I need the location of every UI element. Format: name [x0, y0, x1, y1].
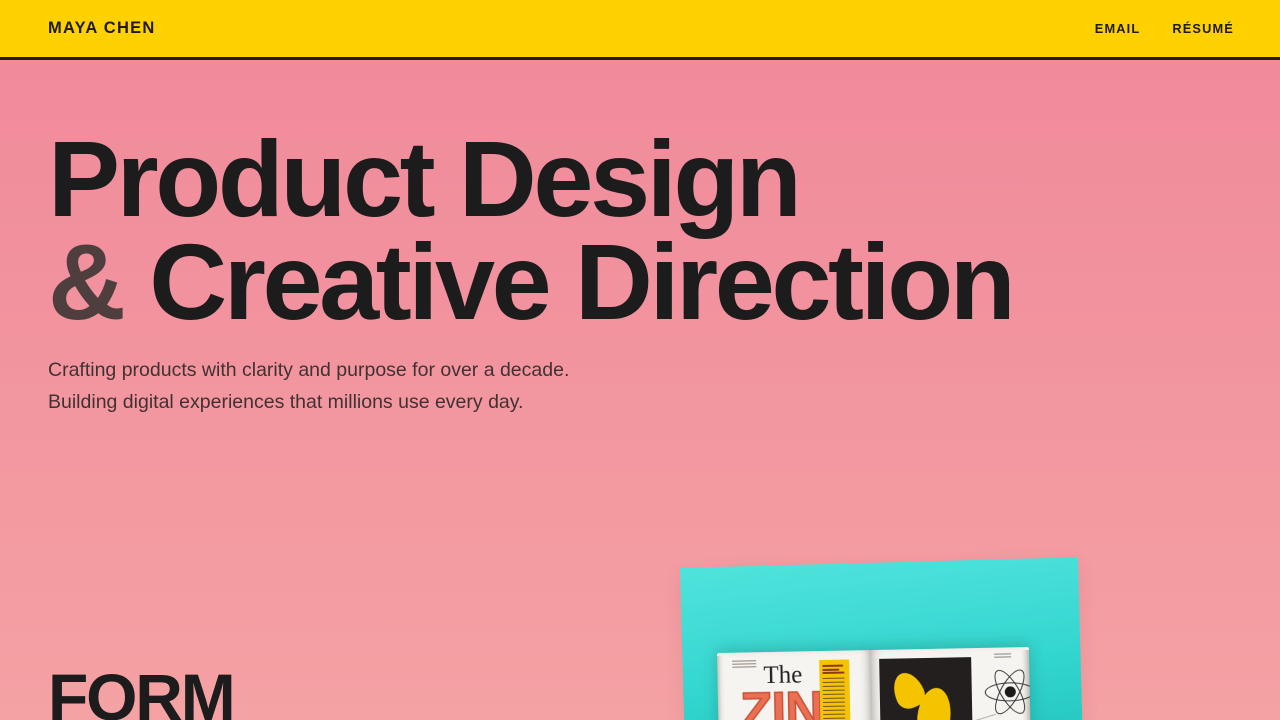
atom-diagram-icon	[983, 665, 1030, 718]
site-header: MAYA CHEN EMAIL RÉSUMÉ	[0, 0, 1280, 60]
nav-link-email[interactable]: EMAIL	[1095, 21, 1141, 36]
heading-line-2-text: Creative Direction	[149, 221, 1012, 342]
nav-link-resume[interactable]: RÉSUMÉ	[1172, 21, 1234, 36]
page-edge-stack	[717, 656, 726, 720]
sidebar-body-text-lines	[822, 678, 845, 720]
sidebar-headline-rule	[822, 668, 839, 670]
page-title: Product Design & Creative Direction	[48, 128, 1012, 333]
page-root: MAYA CHEN EMAIL RÉSUMÉ Product Design & …	[0, 0, 1280, 720]
heading-line-1: Product Design	[48, 128, 1012, 231]
showcase-image: The ZIN	[672, 556, 1092, 720]
magazine-black-panel	[879, 657, 973, 720]
magazine-left-page: The ZIN	[717, 650, 873, 720]
subtitle-line-1: Crafting products with clarity and purpo…	[48, 354, 569, 386]
main-navigation: EMAIL RÉSUMÉ	[1095, 21, 1234, 36]
heading-line-2: & Creative Direction	[48, 231, 1012, 334]
sidebar-headline-rule	[822, 665, 843, 667]
subtitle-line-2: Building digital experiences that millio…	[48, 386, 569, 418]
magazine-folio	[994, 653, 1011, 658]
magazine-running-head	[732, 660, 756, 668]
sidebar-headline-rule	[822, 672, 844, 674]
atom-nucleus	[1004, 686, 1015, 697]
open-magazine: The ZIN	[717, 647, 1031, 720]
hero-subtitle: Crafting products with clarity and purpo…	[48, 354, 569, 418]
magazine-right-page	[871, 647, 1031, 720]
heading-ampersand: &	[48, 221, 123, 342]
brand-name[interactable]: MAYA CHEN	[48, 19, 156, 38]
magazine-title: ZIN	[740, 684, 823, 720]
magazine-yellow-sidebar	[819, 659, 851, 720]
section-heading-form: FORM	[48, 664, 234, 720]
